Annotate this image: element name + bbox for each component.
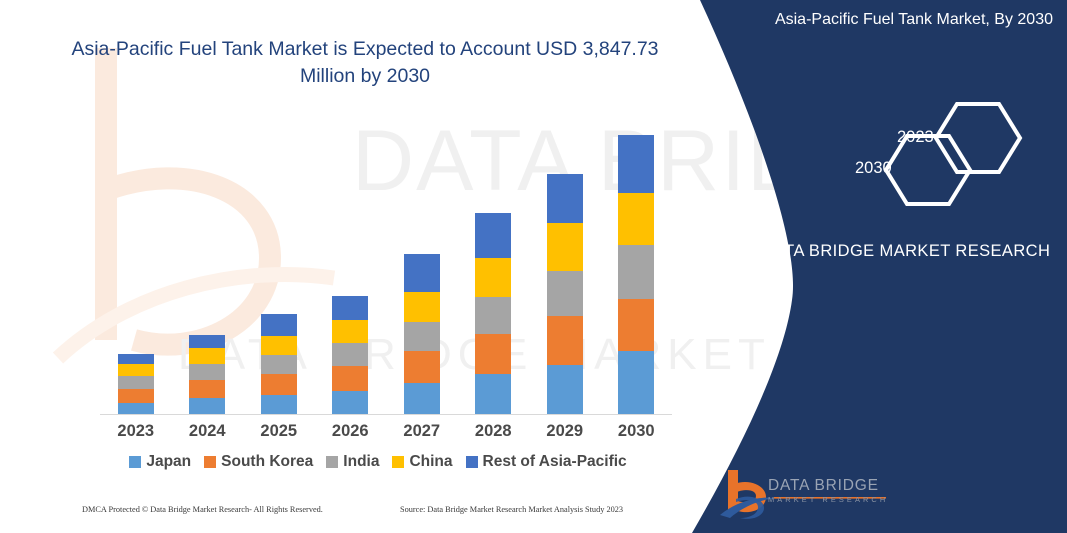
bar-segment [118, 389, 154, 403]
stacked-bar-2027 [404, 254, 440, 414]
x-axis-tick-2028: 2028 [458, 422, 528, 441]
bar-segment [118, 364, 154, 376]
panel-brand-name: DATA BRIDGE MARKET RESEARCH [756, 238, 1056, 264]
bar-segment [118, 354, 154, 364]
bar-segment [547, 174, 583, 223]
legend-item: India [326, 453, 379, 471]
bar-segment [332, 296, 368, 320]
x-axis-tick-2030: 2030 [601, 422, 671, 441]
bar-segment [404, 322, 440, 351]
stacked-bar-chart [78, 120, 678, 416]
bar-segment [332, 366, 368, 391]
bar-segment [404, 383, 440, 414]
legend-swatch-icon [392, 456, 404, 468]
bar-segment [618, 193, 654, 245]
legend-label: Rest of Asia-Pacific [483, 453, 627, 471]
bar-segment [547, 365, 583, 414]
bar-segment [261, 395, 297, 414]
bar-slot-2023 [101, 120, 171, 414]
bar-slot-2030 [601, 120, 671, 414]
bar-slot-2027 [387, 120, 457, 414]
bar-segment [332, 343, 368, 366]
bar-segment [404, 254, 440, 292]
bar-segment [475, 374, 511, 414]
chart-legend: JapanSouth KoreaIndiaChinaRest of Asia-P… [78, 453, 678, 471]
stacked-bar-2029 [547, 174, 583, 414]
bar-segment [189, 348, 225, 364]
bar-segment [547, 271, 583, 316]
bar-segment [404, 351, 440, 383]
bar-segment [189, 335, 225, 348]
bar-segment [261, 336, 297, 355]
infographic-root: DATA BRIDGE DATA BRIDGE MARKET RESEARCH … [0, 0, 1067, 533]
legend-item: Japan [129, 453, 191, 471]
bar-segment [118, 376, 154, 389]
footer-copyright: DMCA Protected © Data Bridge Market Rese… [82, 505, 323, 514]
bar-segment [332, 391, 368, 414]
bar-segment [261, 374, 297, 395]
bar-segment [189, 398, 225, 414]
bar-slot-2024 [172, 120, 242, 414]
panel-heading: Asia-Pacific Fuel Tank Market, By 2030 [753, 8, 1053, 32]
legend-swatch-icon [129, 456, 141, 468]
bar-segment [189, 364, 225, 380]
stacked-bar-2025 [261, 314, 297, 414]
logo-subtitle: MARKET RESEARCH [768, 494, 888, 505]
stacked-bar-2028 [475, 213, 511, 414]
x-axis-tick-2027: 2027 [387, 422, 457, 441]
bar-segment [261, 314, 297, 336]
bar-segment [475, 213, 511, 258]
page-title: Asia-Pacific Fuel Tank Market is Expecte… [60, 36, 670, 90]
bar-segment [475, 258, 511, 297]
x-axis-tick-2025: 2025 [244, 422, 314, 441]
stacked-bar-2024 [189, 335, 225, 414]
bar-segment [404, 292, 440, 322]
hexagon-pair-graphic [803, 100, 1043, 215]
legend-swatch-icon [204, 456, 216, 468]
bar-segment [618, 351, 654, 414]
bar-segment [618, 299, 654, 351]
panel-content: Asia-Pacific Fuel Tank Market, By 2030 2… [745, 0, 1067, 533]
legend-label: China [409, 453, 452, 471]
logo-title: DATA BRIDGE [768, 477, 888, 494]
chart-plot-area [100, 120, 672, 415]
bar-slot-2028 [458, 120, 528, 414]
footer-source: Source: Data Bridge Market Research Mark… [400, 505, 623, 514]
bar-segment [261, 355, 297, 374]
stacked-bar-2030 [618, 135, 654, 414]
legend-item: China [392, 453, 452, 471]
legend-swatch-icon [326, 456, 338, 468]
x-axis-tick-2029: 2029 [530, 422, 600, 441]
bar-segment [189, 380, 225, 398]
bar-slot-2026 [315, 120, 385, 414]
legend-item: South Korea [204, 453, 313, 471]
bar-slot-2029 [530, 120, 600, 414]
legend-label: South Korea [221, 453, 313, 471]
x-axis-tick-2026: 2026 [315, 422, 385, 441]
logo-text-block: DATA BRIDGE MARKET RESEARCH [768, 477, 888, 505]
bar-segment [475, 334, 511, 374]
bar-segment [475, 297, 511, 334]
x-axis-tick-2024: 2024 [172, 422, 242, 441]
bar-segment [618, 245, 654, 299]
hexagon-2030-label: 2030 [855, 159, 892, 178]
bar-segment [618, 135, 654, 193]
stacked-bar-2023 [118, 354, 154, 414]
hexagon-2023-label: 2023 [897, 128, 934, 147]
x-axis-tick-2023: 2023 [101, 422, 171, 441]
bar-segment [332, 320, 368, 343]
bar-segment [118, 403, 154, 414]
stacked-bar-2026 [332, 296, 368, 414]
x-axis-labels: 20232024202520262027202820292030 [100, 422, 672, 441]
bar-slot-2025 [244, 120, 314, 414]
legend-swatch-icon [466, 456, 478, 468]
bar-segment [547, 316, 583, 365]
legend-label: India [343, 453, 379, 471]
legend-item: Rest of Asia-Pacific [466, 453, 627, 471]
bar-segment [547, 223, 583, 271]
legend-label: Japan [146, 453, 191, 471]
